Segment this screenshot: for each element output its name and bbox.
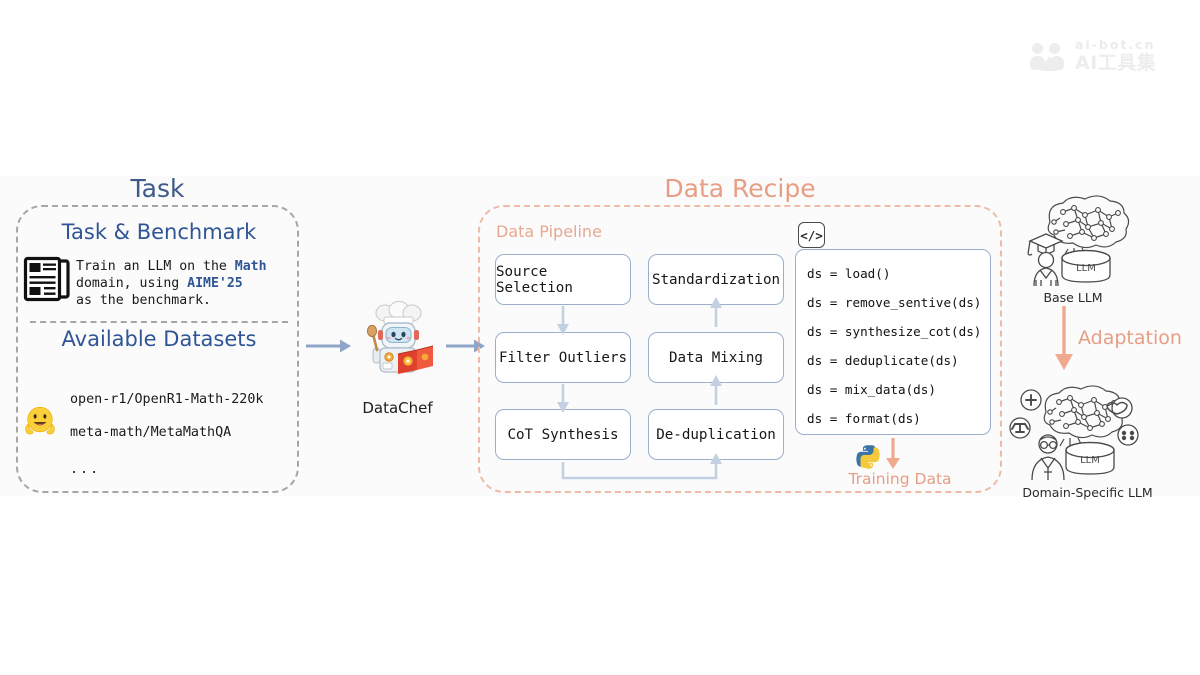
adaptation-label: Adaptation	[1078, 327, 1182, 349]
task-highlight-aime: AIME'25	[187, 276, 243, 291]
code-line: ds = format(ds)	[807, 404, 990, 433]
watermark-top-text: ai-bot.cn	[1075, 39, 1156, 52]
data-recipe-section-title: Data Recipe	[480, 174, 1000, 203]
watermark-bottom-text: AI工具集	[1075, 54, 1156, 73]
task-description-text: Train an LLM on the Math domain, using A…	[76, 258, 292, 309]
code-badge-icon[interactable]: </>	[798, 222, 825, 248]
code-block[interactable]: ds = load() ds = remove_sentive(ds) ds =…	[795, 249, 991, 435]
base-llm-brain-icon: LLM	[1008, 196, 1138, 288]
code-line: ds = load()	[807, 259, 990, 288]
svg-text:LLM: LLM	[1080, 455, 1100, 466]
task-text-part-2: domain, using	[76, 276, 187, 291]
pipeline-connectors	[488, 248, 798, 486]
domain-specific-llm-brain-icon: LLM	[1000, 382, 1146, 482]
task-highlight-math: Math	[235, 259, 267, 274]
available-datasets-heading: Available Datasets	[24, 327, 294, 351]
diagram-canvas: ai-bot.cn AI工具集 Task Data Recipe Task & …	[0, 0, 1200, 675]
code-line: ds = mix_data(ds)	[807, 375, 990, 404]
task-panel-divider	[30, 321, 288, 323]
datachef-robot-icon	[353, 300, 441, 380]
task-benchmark-heading: Task & Benchmark	[24, 220, 294, 244]
watermark-logo-icon	[1028, 41, 1068, 71]
arrow-to-training-data	[882, 438, 904, 470]
adaptation-arrow	[1051, 306, 1077, 372]
code-line: ds = deduplicate(ds)	[807, 346, 990, 375]
code-line: ds = synthesize_cot(ds)	[807, 317, 990, 346]
svg-text:LLM: LLM	[1076, 263, 1096, 274]
task-text-part-3: as the benchmark.	[76, 293, 211, 308]
base-llm-label: Base LLM	[1008, 290, 1138, 305]
dataset-item: open-r1/OpenR1-Math-220k	[70, 392, 263, 407]
code-line: ds = remove_sentive(ds)	[807, 288, 990, 317]
training-data-label: Training Data	[820, 470, 980, 488]
dataset-item-ellipsis: ...	[70, 462, 100, 477]
datachef-label: DataChef	[340, 399, 455, 417]
data-pipeline-label: Data Pipeline	[496, 222, 602, 241]
hugging-face-emoji-icon	[23, 404, 57, 438]
newspaper-icon	[24, 258, 70, 300]
task-text-part-1: Train an LLM on the	[76, 259, 235, 274]
task-section-title: Task	[0, 174, 315, 203]
dataset-item: meta-math/MetaMathQA	[70, 425, 231, 440]
domain-specific-llm-label: Domain-Specific LLM	[1000, 485, 1175, 500]
python-logo-icon	[855, 444, 881, 470]
arrow-task-to-datachef	[306, 335, 352, 357]
watermark: ai-bot.cn AI工具集	[1028, 33, 1188, 79]
